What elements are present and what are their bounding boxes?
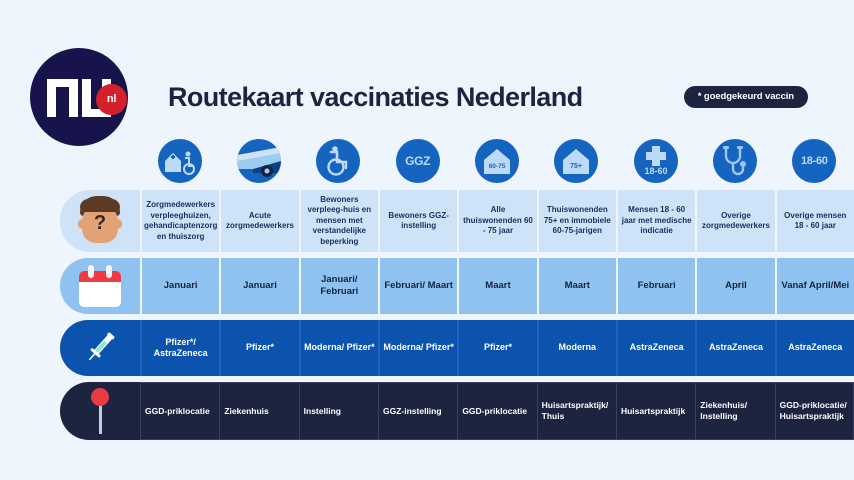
icon-cell: [219, 138, 298, 184]
house-75-plus-icon: 75+: [554, 139, 598, 183]
table-cell: Thuiswonenden 75+ en immobiele 60-75-jar…: [537, 190, 616, 252]
nl-badge: nl: [96, 84, 127, 115]
table-cell: AstraZeneca: [775, 320, 854, 376]
table-cell: Alle thuiswonenden 60 - 75 jaar: [457, 190, 536, 252]
timing-row: Januari Januari Januari/ Februari Februa…: [60, 258, 854, 314]
icon-cell: 60-75: [457, 138, 536, 184]
table-cell: Ziekenhuis/ Instelling: [695, 382, 774, 440]
table-cell: Overige mensen 18 - 60 jaar: [775, 190, 854, 252]
target-group-cells: Zorgmedewerkers verpleeghuizen, gehandic…: [140, 190, 854, 252]
table-cell: Maart: [537, 258, 616, 314]
table-cell: Moderna/ Pfizer*: [299, 320, 378, 376]
location-cells: GGD-priklocatie Ziekenhuis Instelling GG…: [140, 382, 854, 440]
wheelchair-icon: [316, 139, 360, 183]
table-cell: Ziekenhuis: [219, 382, 298, 440]
table-cell: Moderna: [537, 320, 616, 376]
table-cell: Pfizer*/ AstraZeneca: [140, 320, 219, 376]
table-cell: Huisartspraktijk: [616, 382, 695, 440]
table-cell: Maart: [457, 258, 536, 314]
table-cell: Huisartspraktijk/ Thuis: [537, 382, 616, 440]
target-group-row: ? Zorgmedewerkers verpleeghuizen, gehand…: [60, 190, 854, 252]
syringe-icon: [60, 320, 140, 376]
table-cell: Instelling: [299, 382, 378, 440]
nursing-home-wheelchair-icon: [158, 139, 202, 183]
table-cell: AstraZeneca: [695, 320, 774, 376]
vaccine-row: Pfizer*/ AstraZeneca Pfizer* Moderna/ Pf…: [60, 320, 854, 376]
icon-cell: GGZ: [378, 138, 457, 184]
icon-cell: [299, 138, 378, 184]
table-cell: Overige zorgmedewerkers: [695, 190, 774, 252]
timing-cells: Januari Januari Januari/ Februari Februa…: [140, 258, 854, 314]
table-cell: Bewoners GGZ-instelling: [378, 190, 457, 252]
page-title: Routekaart vaccinaties Nederland: [168, 82, 582, 113]
approved-vaccine-legend: * goedgekeurd vaccin: [684, 86, 808, 108]
icon-cell: 18-60: [616, 138, 695, 184]
table-cell: Pfizer*: [457, 320, 536, 376]
nu-nl-logo: nl: [30, 48, 128, 146]
location-row: GGD-priklocatie Ziekenhuis Instelling GG…: [60, 382, 854, 440]
table-cell: AstraZeneca: [616, 320, 695, 376]
person-question-icon: ?: [60, 190, 140, 252]
table-cell: Zorgmedewerkers verpleeghuizen, gehandic…: [140, 190, 219, 252]
table-cell: Acute zorgmedewerkers: [219, 190, 298, 252]
roadmap-table: ? Zorgmedewerkers verpleeghuizen, gehand…: [60, 190, 854, 446]
ggz-label: GGZ: [405, 154, 430, 168]
calendar-icon: [60, 258, 140, 314]
table-cell: Moderna/ Pfizer*: [378, 320, 457, 376]
house-60-75-icon: 60-75: [475, 139, 519, 183]
svg-text:75+: 75+: [570, 163, 582, 170]
ambulance-icon: [237, 139, 281, 183]
category-icon-strip: GGZ 60-75 75+ 18-: [140, 138, 854, 184]
table-cell: Februari: [616, 258, 695, 314]
table-cell: Januari/ Februari: [299, 258, 378, 314]
svg-text:18-60: 18-60: [644, 166, 667, 176]
stethoscope-icon: [713, 139, 757, 183]
age-range-label: 18-60: [801, 155, 828, 167]
table-cell: Vanaf April/Mei: [775, 258, 854, 314]
table-cell: GGD-priklocatie/ Huisartspraktijk: [775, 382, 854, 440]
vaccine-cells: Pfizer*/ AstraZeneca Pfizer* Moderna/ Pf…: [140, 320, 854, 376]
table-cell: Mensen 18 - 60 jaar met medische indicat…: [616, 190, 695, 252]
table-cell: GGD-priklocatie: [457, 382, 536, 440]
svg-text:60-75: 60-75: [489, 163, 506, 170]
medical-cross-18-60-icon: 18-60: [634, 139, 678, 183]
map-pin-icon: [60, 382, 140, 440]
table-cell: Bewoners verpleeg-huis en mensen met ver…: [299, 190, 378, 252]
table-cell: Januari: [140, 258, 219, 314]
ggz-text-icon: GGZ: [396, 139, 440, 183]
icon-cell: [695, 138, 774, 184]
table-cell: GGD-priklocatie: [140, 382, 219, 440]
table-cell: GGZ-instelling: [378, 382, 457, 440]
table-cell: Januari: [219, 258, 298, 314]
icon-cell: 75+: [537, 138, 616, 184]
table-cell: Februari/ Maart: [378, 258, 457, 314]
vaccination-roadmap-infographic: nl Routekaart vaccinaties Nederland * go…: [0, 0, 854, 480]
table-cell: April: [695, 258, 774, 314]
icon-cell: [140, 138, 219, 184]
header: nl Routekaart vaccinaties Nederland * go…: [0, 0, 854, 132]
table-cell: Pfizer*: [219, 320, 298, 376]
icon-cell: 18-60: [775, 138, 854, 184]
age-18-60-text-icon: 18-60: [792, 139, 836, 183]
